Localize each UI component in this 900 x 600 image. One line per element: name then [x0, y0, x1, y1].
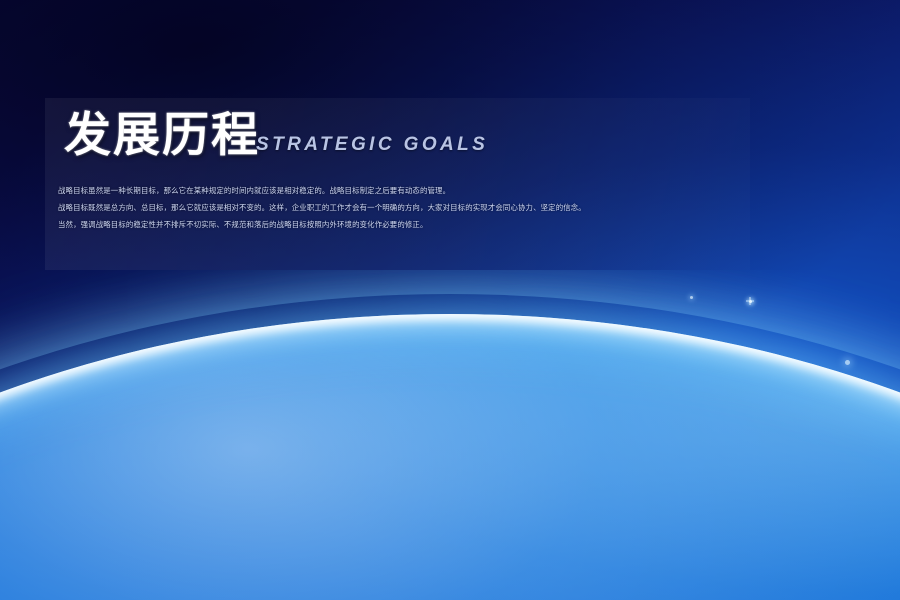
earth-container — [0, 270, 900, 600]
atmosphere-limb — [0, 314, 900, 600]
banner-stage: 发展历程 STRATEGIC GOALS 战略目标虽然是一种长期目标，那么它在某… — [0, 0, 900, 600]
title-chinese: 发展历程 — [64, 112, 260, 159]
body-line: 战略目标既然是总方向、总目标，那么它就应该是相对不变的。这样，企业职工的工作才会… — [58, 202, 738, 213]
body-copy: 战略目标虽然是一种长期目标，那么它在某种规定的时间内就应该是相对稳定的。战略目标… — [58, 185, 738, 236]
page-title: 发展历程 STRATEGIC GOALS — [64, 112, 488, 159]
title-english-subtitle: STRATEGIC GOALS — [256, 134, 488, 156]
body-line: 当然，强调战略目标的稳定性并不排斥不切实际、不规范和落后的战略目标按照内外环境的… — [58, 219, 738, 230]
body-line: 战略目标虽然是一种长期目标，那么它在某种规定的时间内就应该是相对稳定的。战略目标… — [58, 185, 738, 196]
